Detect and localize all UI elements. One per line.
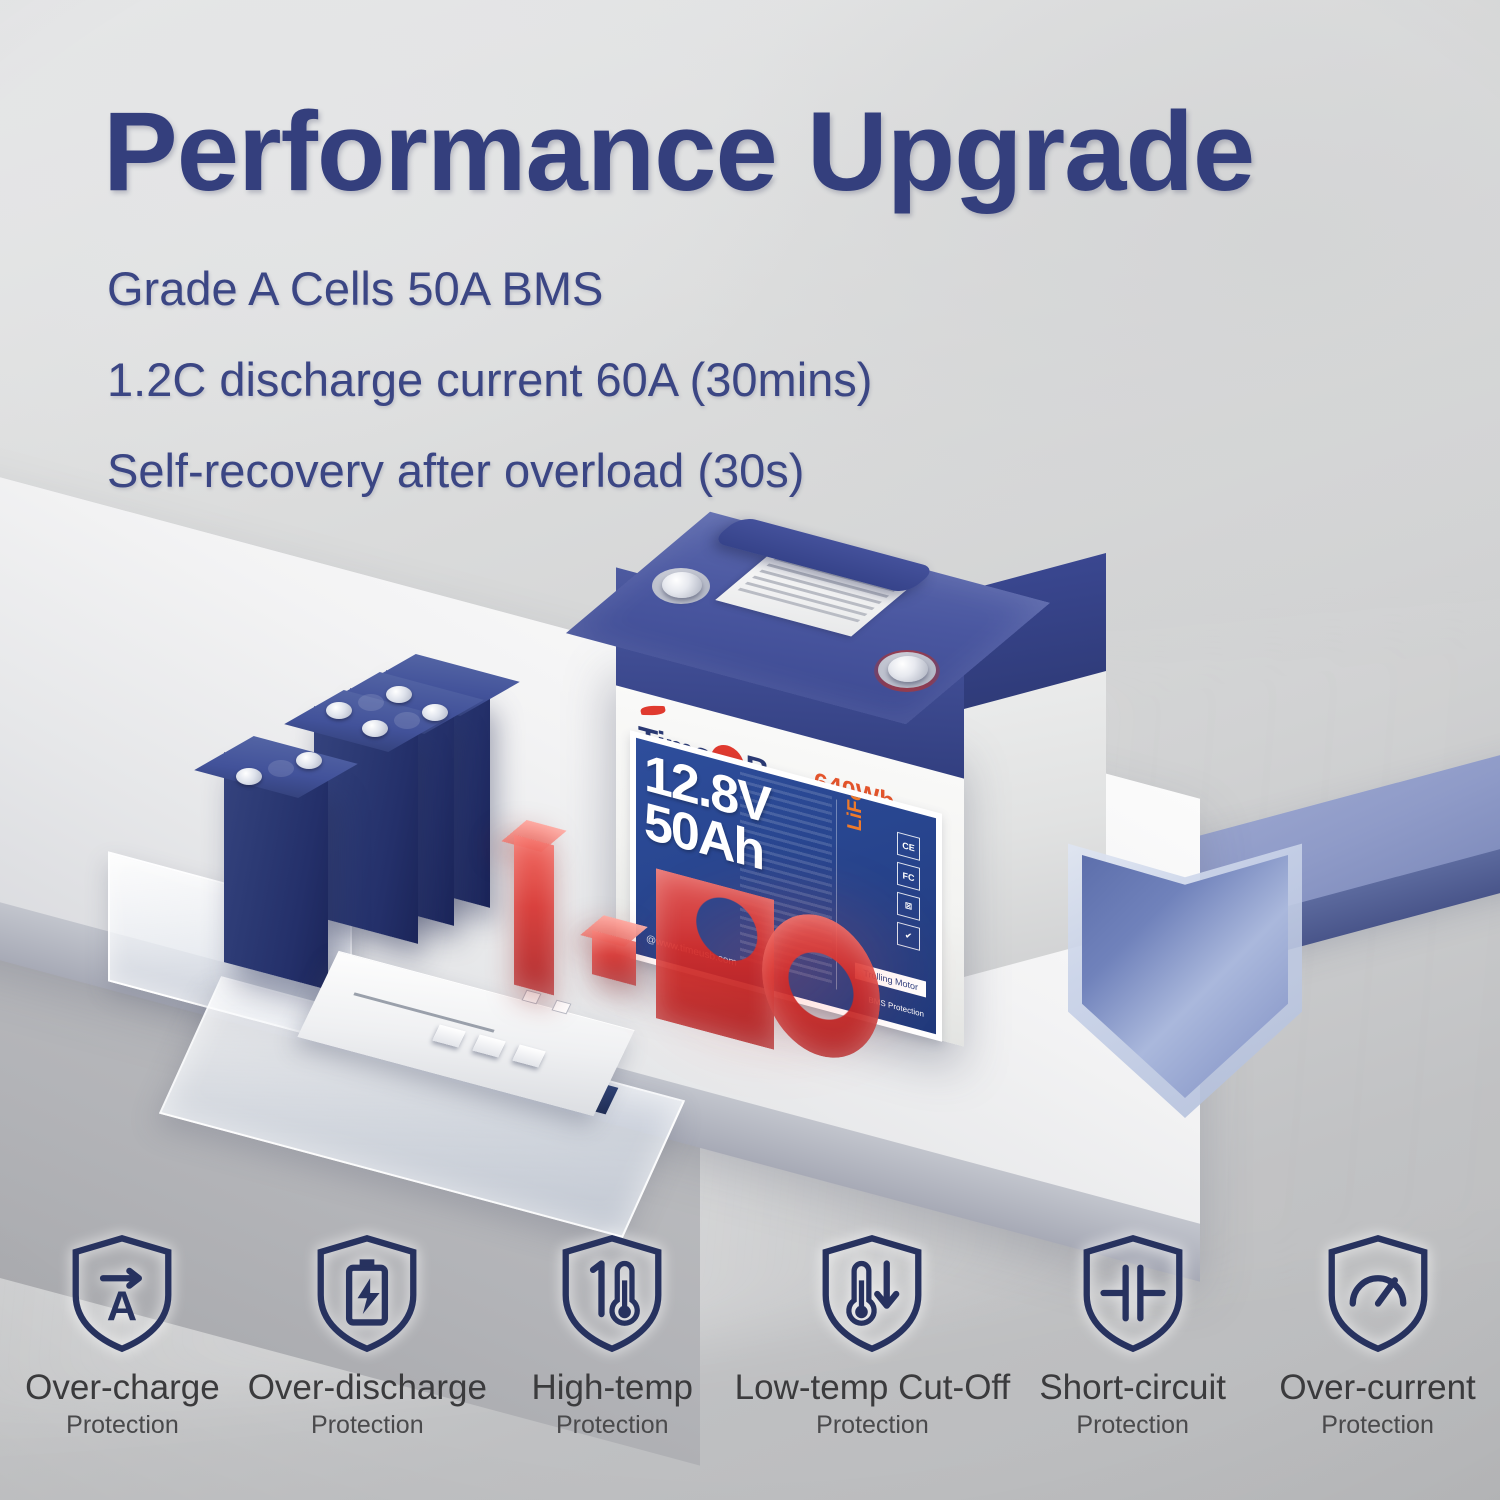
product-feature-banner: Timc us B Time Full of Energy, Useful, S… [0, 0, 1500, 1500]
background-vignette [0, 0, 1500, 1500]
